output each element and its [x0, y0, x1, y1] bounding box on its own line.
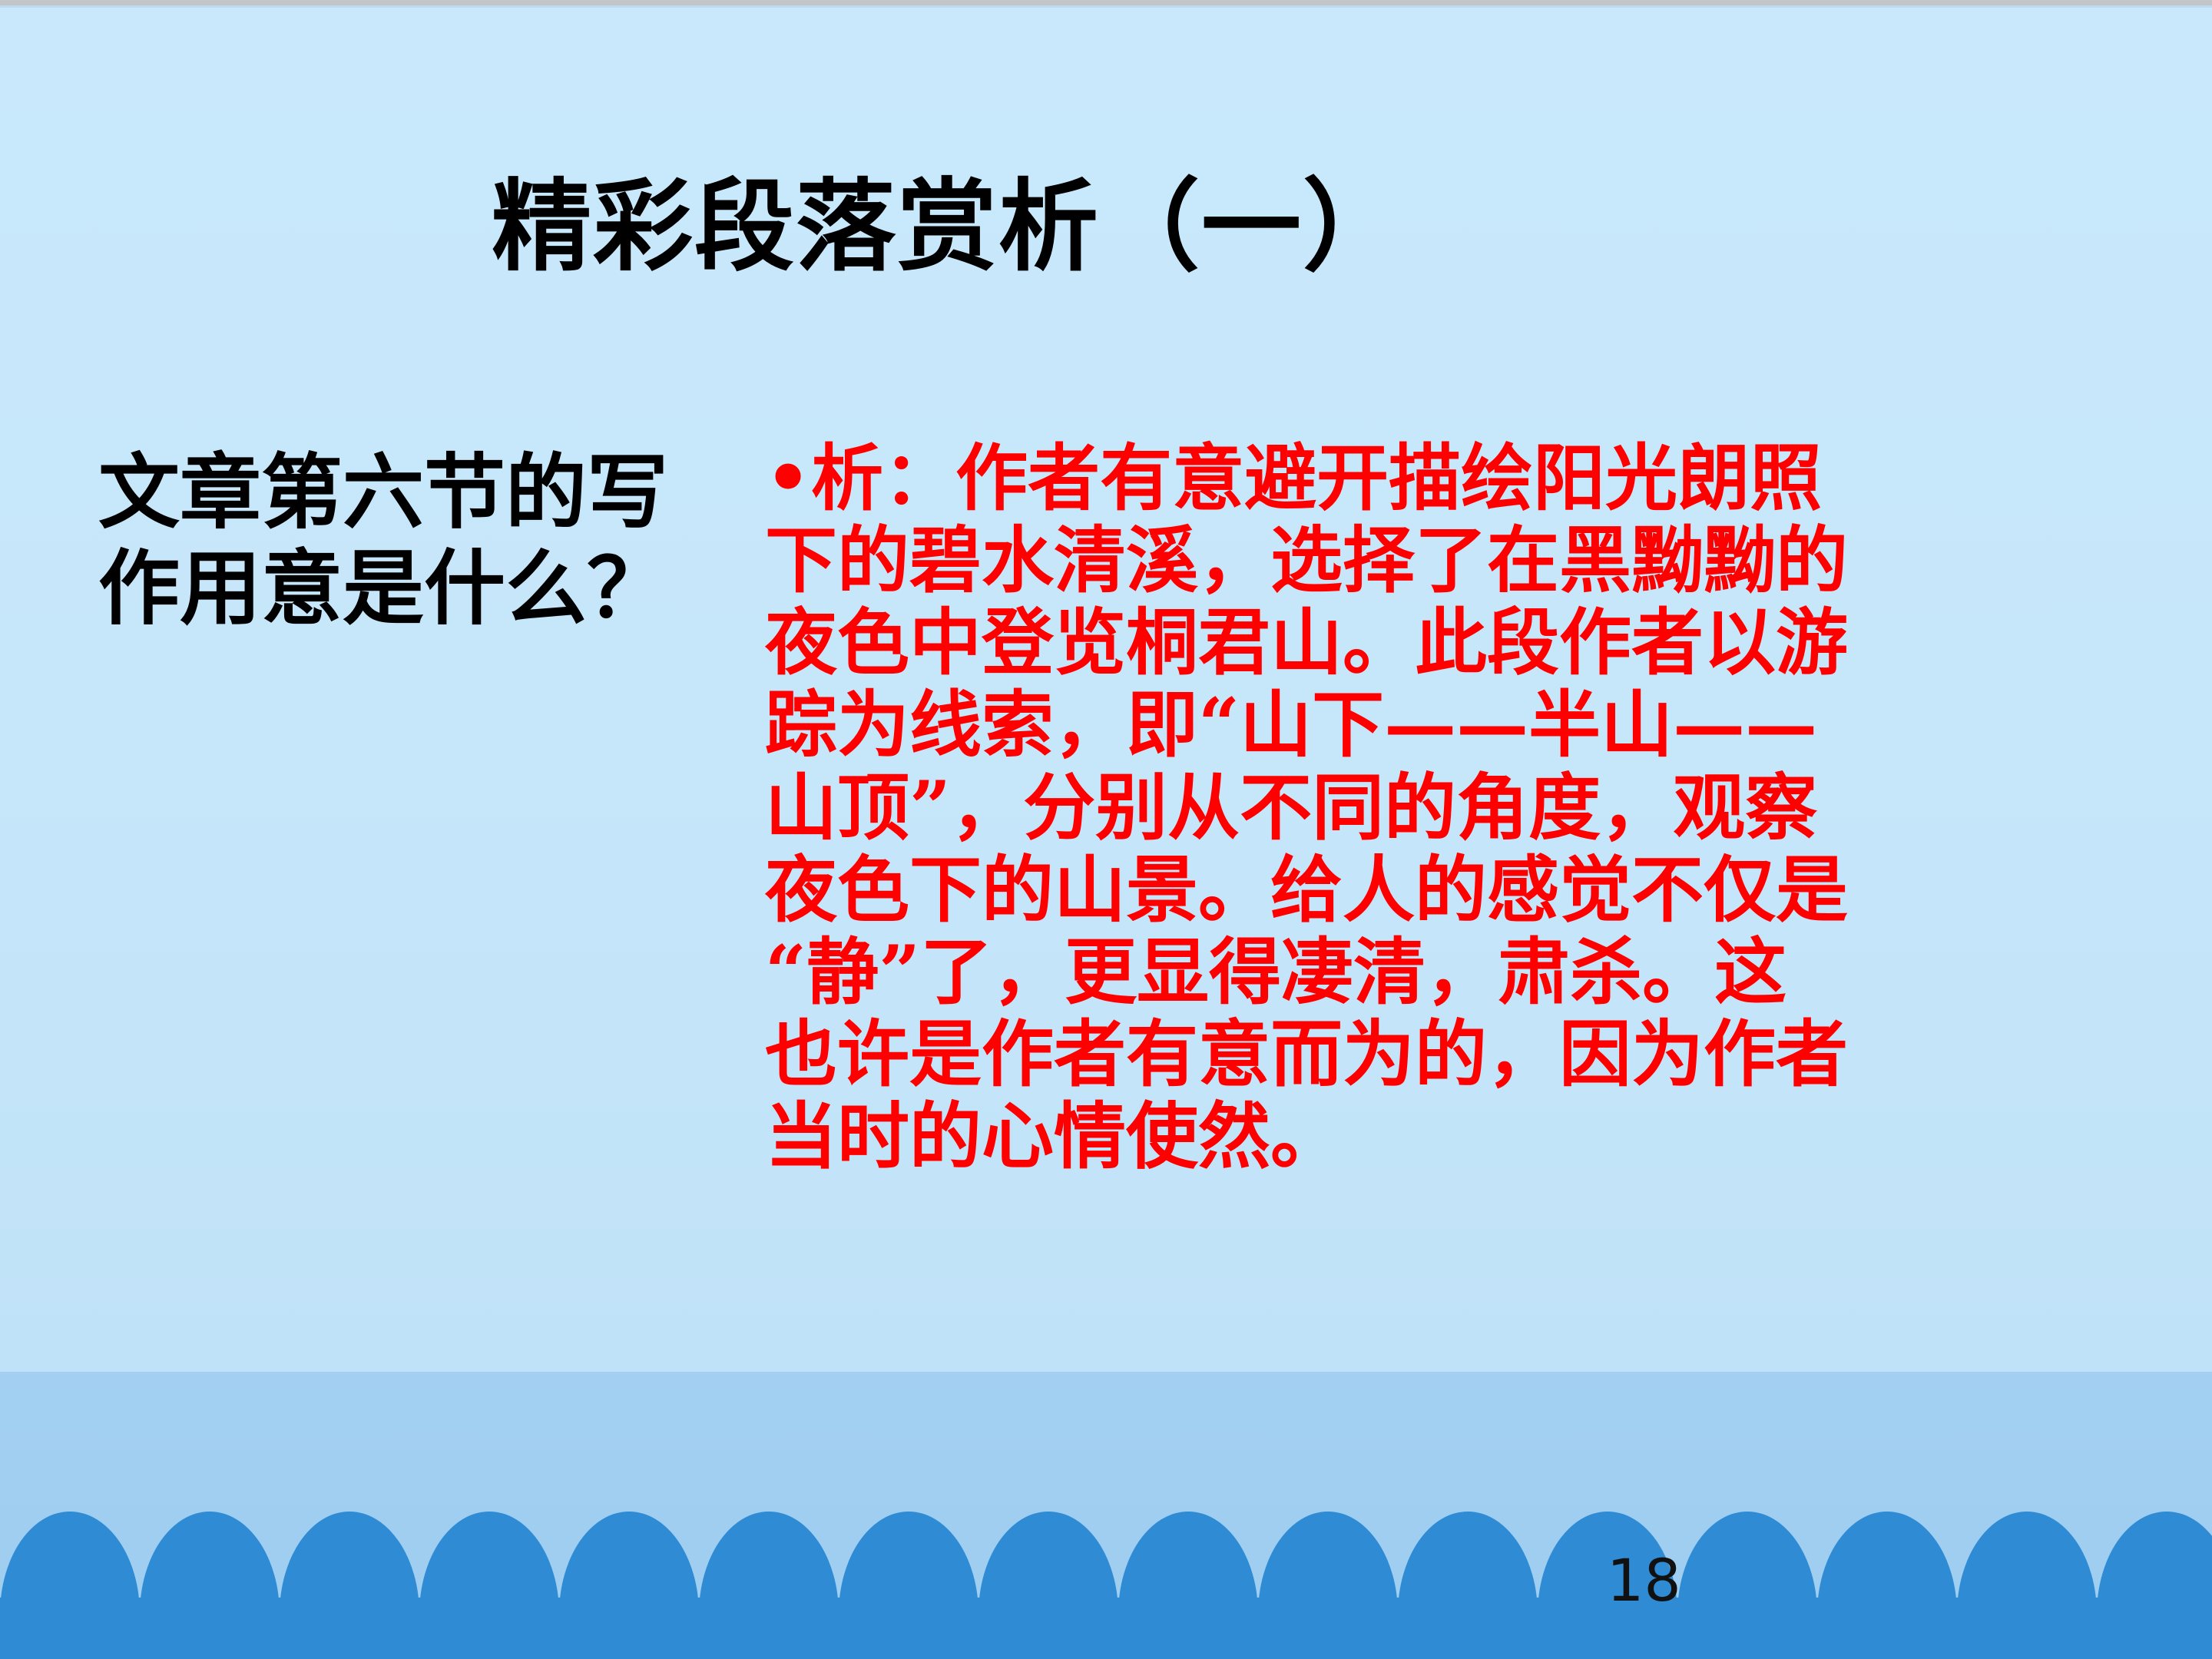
scallop-shape [1747, 1598, 1887, 1659]
top-border-rule [0, 0, 2212, 5]
scallop-shape [769, 1598, 909, 1659]
analysis-line: 下的碧水清溪，选择了在黑黝黝的 [765, 520, 2140, 602]
scallop-shape [1887, 1598, 2027, 1659]
scallop-shape [1468, 1598, 1608, 1659]
analysis-text-block: •析：作者有意避开描绘阳光朗照 下的碧水清溪，选择了在黑黝黝的 夜色中登览桐君山… [765, 438, 2140, 1178]
bottom-decoration-band [0, 1372, 2212, 1659]
scallop-shape [70, 1598, 210, 1659]
analysis-line: 夜色中登览桐君山。此段作者以游 [765, 602, 2140, 684]
scallop-shape [1188, 1598, 1328, 1659]
scallop-shape [1328, 1598, 1468, 1659]
analysis-line: 也许是作者有意而为的，因为作者 [765, 1014, 2140, 1096]
analysis-line: “静”了，更显得凄清，肃杀。这 [765, 932, 2140, 1014]
scallop-shape [629, 1598, 769, 1659]
analysis-line: 山顶”，分别从不同的角度，观察 [765, 767, 2140, 849]
scallop-shape [349, 1598, 489, 1659]
scallop-shape [489, 1598, 629, 1659]
analysis-line: 踪为线索，即“山下——半山—— [765, 684, 2140, 767]
question-text: 文章第六节的写作用意是什么？ [98, 444, 705, 636]
slide-title: 精彩段落赏析（一） [492, 171, 1720, 283]
scallop-shape [2167, 1598, 2212, 1659]
analysis-line: •析：作者有意避开描绘阳光朗照 [765, 438, 2140, 520]
scallop-shape [2027, 1598, 2167, 1659]
page-number: 18 [1607, 1551, 1681, 1610]
slide-canvas: 精彩段落赏析（一） 文章第六节的写作用意是什么？ •析：作者有意避开描绘阳光朗照… [0, 0, 2212, 1659]
scallop-shape [1048, 1598, 1188, 1659]
scallop-row-front [0, 1586, 2212, 1659]
analysis-line: 当时的心情使然。 [765, 1096, 2140, 1178]
analysis-line: 夜色下的山景。给人的感觉不仅是 [765, 849, 2140, 932]
scallop-shape [909, 1598, 1048, 1659]
scallop-shape [210, 1598, 349, 1659]
scallop-shape [0, 1598, 70, 1659]
